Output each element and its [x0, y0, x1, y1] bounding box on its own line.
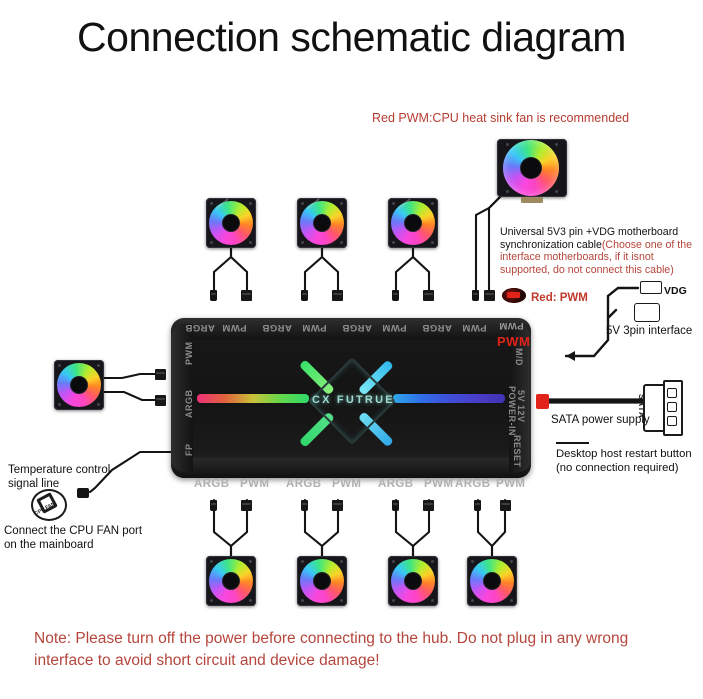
- bottom-fan-2: [297, 556, 347, 606]
- plug-top-8: [484, 290, 495, 301]
- hub-bottom-port-label-8: PWM: [496, 478, 525, 490]
- cpu-fan-port-label: Connect the CPU FAN port on the mainboar…: [4, 525, 154, 552]
- left-fan-1: [54, 360, 104, 410]
- hub-top-port-label-3: ARGB: [262, 322, 292, 333]
- schematic-canvas: Connection schematic diagram: [0, 0, 703, 699]
- sync-cable-note: Universal 5V3 pin +VDG motherboard synch…: [500, 226, 700, 276]
- hub-right-port-label-md: M/D: [514, 348, 524, 366]
- hub-left-port-label-pwm: PWM: [184, 342, 194, 366]
- hub-top-port-label-9: PWM: [499, 320, 524, 331]
- plug-bottom-1: [210, 500, 217, 511]
- hub-bottom-port-label-7: ARGB: [455, 478, 490, 490]
- hub-top-port-label-8: PWM: [462, 322, 487, 333]
- hub-top-port-label-7: ARGB: [422, 322, 452, 333]
- cpu-fan-bracket: [521, 197, 543, 203]
- hub-bottom-port-label-6: PWM: [424, 478, 453, 490]
- bottom-warning-note: Note: Please turn off the power before c…: [34, 628, 684, 672]
- plug-bottom-2: [241, 500, 252, 511]
- reset-button-label: Desktop host restart button (no connecti…: [556, 448, 703, 475]
- hub-bottom-port-label-2: PWM: [240, 478, 269, 490]
- plug-top-6: [423, 290, 434, 301]
- plug-bottom-5: [392, 500, 399, 511]
- vdg-label: VDG: [664, 285, 687, 297]
- hub-right-port-label-5v12v: 5V 12V: [516, 390, 526, 423]
- hub-top-port-label-1: ARGB: [185, 322, 215, 333]
- plug-top-7: [472, 290, 479, 301]
- hub-top-port-label-6: PWM: [382, 322, 407, 333]
- bottom-fan-4: [467, 556, 517, 606]
- plug-bottom-8: [500, 500, 511, 511]
- bottom-fan-3: [388, 556, 438, 606]
- top-fan-3: [388, 198, 438, 248]
- plug-left-argb: [155, 395, 166, 406]
- hub-top-port-label-2: PWM: [222, 322, 247, 333]
- hub-bottom-port-label-4: PWM: [332, 478, 361, 490]
- plug-left-pwm: [155, 369, 166, 380]
- hub-left-port-label-argb: ARGB: [184, 390, 194, 419]
- temperature-signal-label: Temperature control signal line: [8, 464, 138, 491]
- hub-top-port-label-4: PWM: [302, 322, 327, 333]
- hub-top-pwm-red-label: PWM: [497, 334, 530, 349]
- light-pipe-right: [393, 394, 505, 403]
- red-pwm-badge-icon: [502, 288, 526, 303]
- hub-right-port-label-reset: RESET: [512, 435, 522, 468]
- top-fan-2: [297, 198, 347, 248]
- cpu-fan-header-icon: CPU FAN: [31, 489, 65, 519]
- hub-brand-logo: CX FUTRUE: [312, 394, 395, 406]
- hub-bottom-port-label-1: ARGB: [194, 478, 229, 490]
- light-pipe-left: [197, 394, 309, 403]
- hub-bottom-port-label-5: ARGB: [378, 478, 413, 490]
- 5v-3pin-label: 5V 3pin interface: [606, 325, 692, 337]
- plug-bottom-4: [332, 500, 343, 511]
- hub-bottom-port-label-3: ARGB: [286, 478, 321, 490]
- plug-top-1: [210, 290, 217, 301]
- vdg-connector-icon: [640, 281, 662, 294]
- bottom-fan-1: [206, 556, 256, 606]
- cpu-fan-recommend-label: Red PWM:CPU heat sink fan is recommended: [372, 111, 629, 125]
- plug-bottom-6: [423, 500, 434, 511]
- plug-top-5: [392, 290, 399, 301]
- cpu-heatsink-fan: [497, 139, 567, 197]
- sata-power-plug: [536, 394, 549, 409]
- 5v-3pin-connector-icon: [634, 303, 660, 322]
- hub-left-port-label-fp: FP: [184, 443, 194, 456]
- plug-bottom-7: [474, 500, 481, 511]
- red-pwm-label: Red: PWM: [531, 292, 588, 304]
- plug-bottom-3: [301, 500, 308, 511]
- hub-top-port-label-5: ARGB: [342, 322, 372, 333]
- plug-top-2: [241, 290, 252, 301]
- sata-power-supply-label: SATA power supply: [551, 414, 650, 426]
- plug-top-3: [301, 290, 308, 301]
- top-fan-1: [206, 198, 256, 248]
- plug-top-4: [332, 290, 343, 301]
